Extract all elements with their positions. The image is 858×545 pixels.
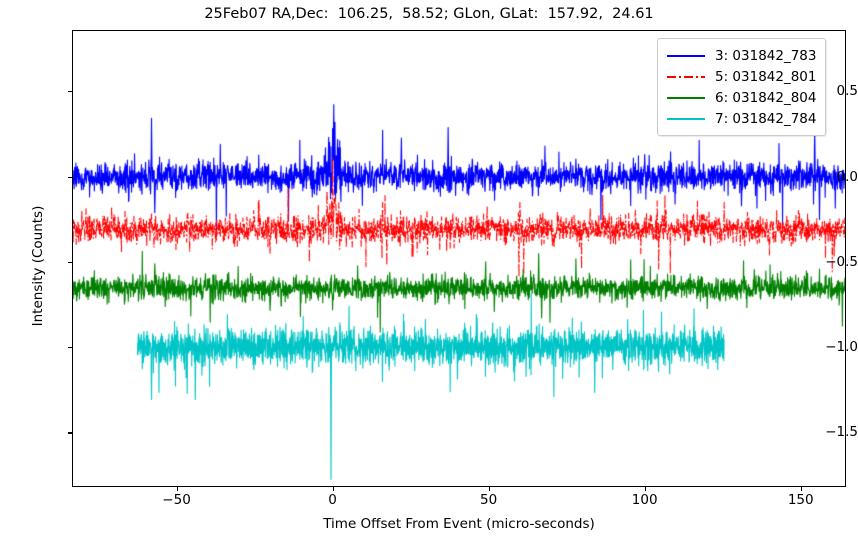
legend: 3: 031842_7835: 031842_8016: 031842_8047… (657, 38, 826, 136)
legend-entry: 6: 031842_804 (666, 87, 816, 108)
legend-label: 3: 031842_783 (715, 48, 816, 64)
y-tick-mark (68, 432, 72, 433)
legend-label: 6: 031842_804 (715, 90, 816, 106)
legend-line-swatch-icon (666, 91, 706, 105)
legend-entry: 7: 031842_784 (666, 108, 816, 129)
y-tick-mark (68, 262, 72, 263)
y-tick-mark (68, 177, 72, 178)
y-axis-label: Intensity (Counts) (30, 146, 46, 386)
y-tick-label: −0.5 (798, 254, 858, 270)
legend-entry: 3: 031842_783 (666, 45, 816, 66)
legend-line-swatch-icon (666, 112, 706, 126)
matplotlib-figure: 25Feb07 RA,Dec: 106.25, 58.52; GLon, GLa… (0, 0, 858, 545)
y-tick-mark (68, 91, 72, 92)
x-axis-label: Time Offset From Event (micro-seconds) (72, 516, 846, 532)
legend-line-swatch-icon (666, 70, 706, 84)
y-tick-label: 0.0 (798, 169, 858, 185)
x-tick-label: 150 (761, 492, 841, 508)
y-tick-label: −1.5 (798, 424, 858, 440)
x-tick-mark (801, 487, 802, 491)
x-tick-label: 50 (449, 492, 529, 508)
legend-label: 5: 031842_801 (715, 69, 816, 85)
y-tick-label: −1.0 (798, 339, 858, 355)
x-tick-label: −50 (137, 492, 217, 508)
x-tick-label: 100 (605, 492, 685, 508)
x-tick-mark (177, 487, 178, 491)
y-tick-mark (68, 347, 72, 348)
legend-line-swatch-icon (666, 49, 706, 63)
legend-label: 7: 031842_784 (715, 111, 816, 127)
x-tick-mark (645, 487, 646, 491)
x-tick-mark (489, 487, 490, 491)
x-tick-mark (333, 487, 334, 491)
plot-title: 25Feb07 RA,Dec: 106.25, 58.52; GLon, GLa… (0, 6, 858, 22)
x-tick-label: 0 (293, 492, 373, 508)
legend-entry: 5: 031842_801 (666, 66, 816, 87)
